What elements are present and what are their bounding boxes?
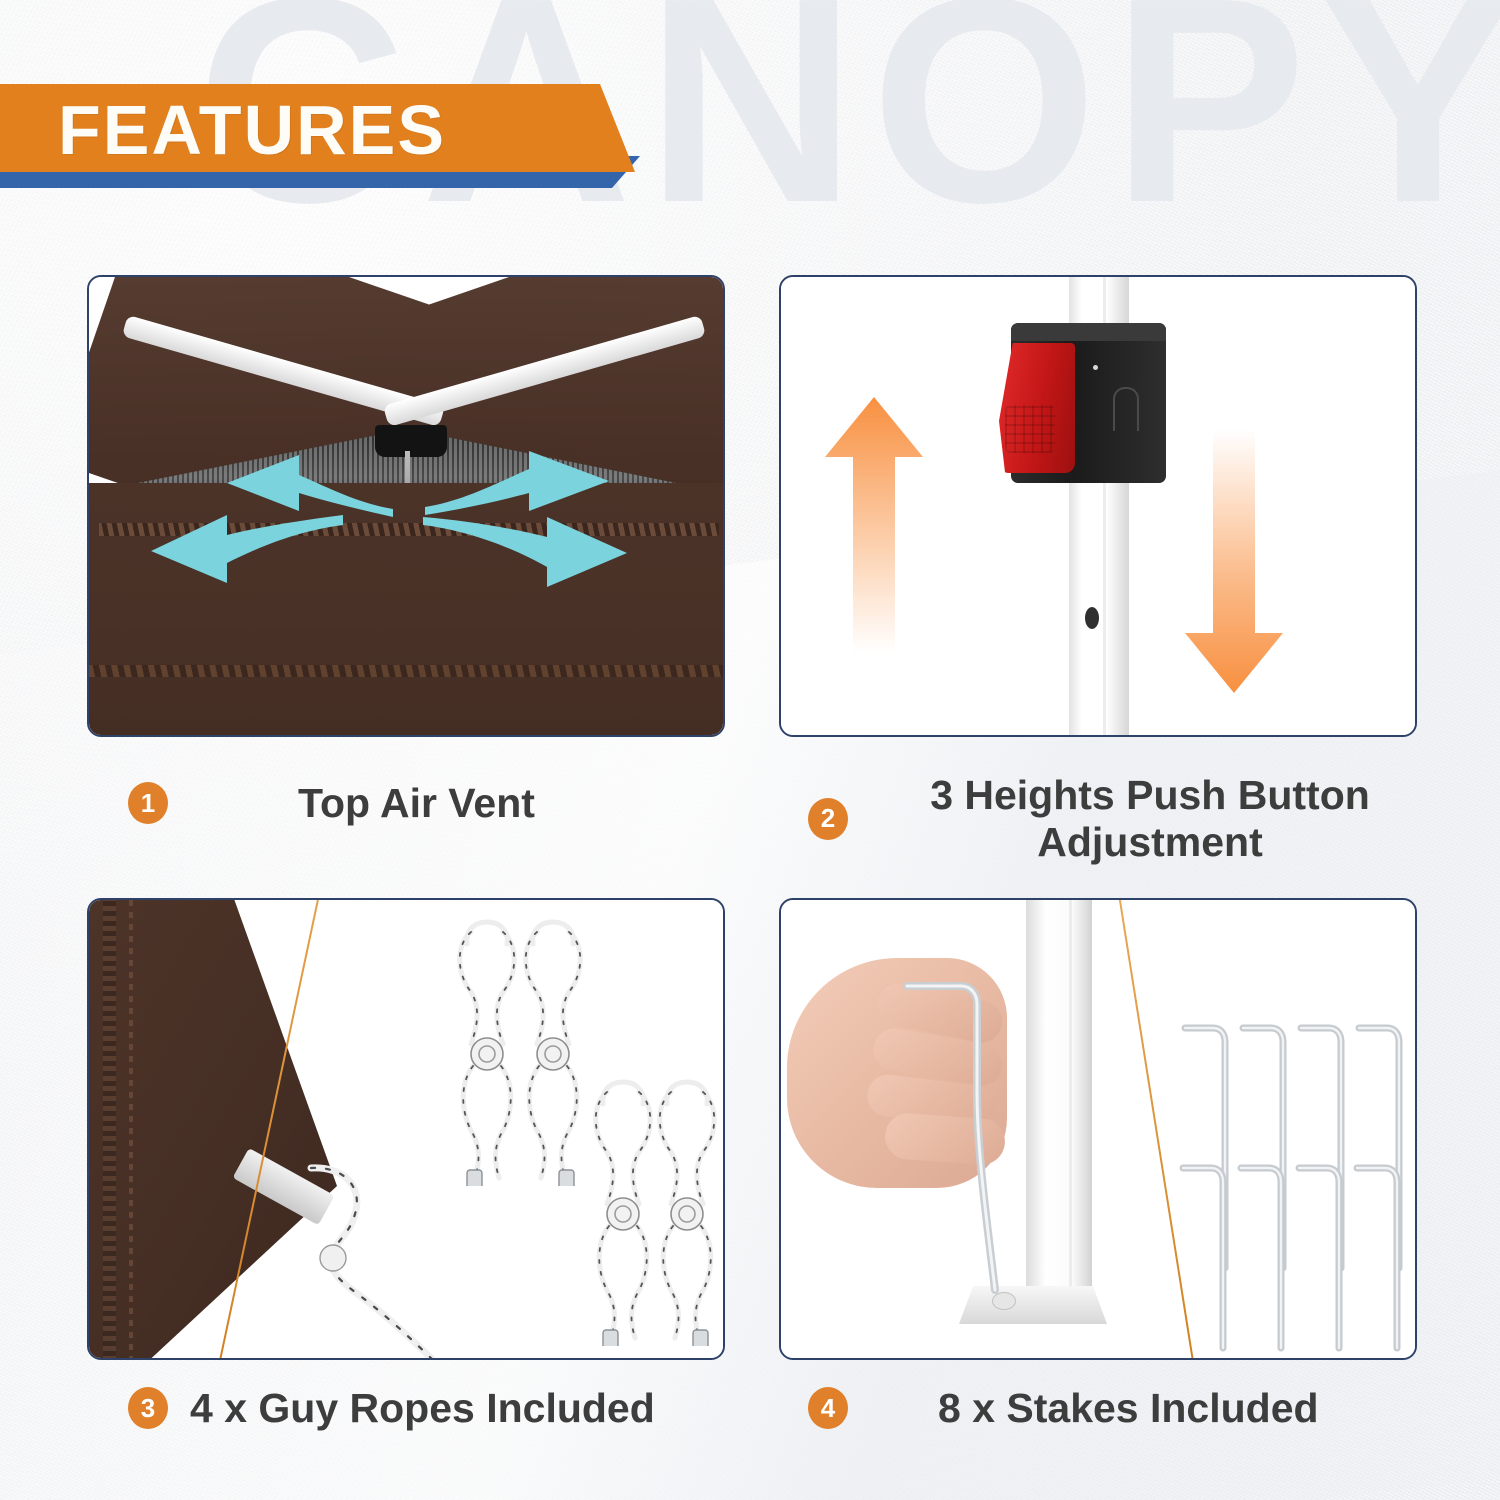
held-stake: [899, 972, 1019, 1302]
canopy-leg-pole: [1026, 898, 1092, 1314]
feature-label-1: Top Air Vent: [298, 780, 535, 827]
airflow-arrow-right-lower: [419, 509, 634, 593]
stake-7: [1295, 1158, 1347, 1358]
infographic-page: CANOPY FEATURES: [0, 0, 1500, 1500]
feature-label-3: 4 x Guy Ropes Included: [190, 1385, 655, 1432]
housing-slot: [1113, 387, 1139, 431]
red-button-grip-texture: [1005, 405, 1055, 453]
banner-title: FEATURES: [58, 90, 446, 170]
coiled-rope-3: [587, 1076, 661, 1346]
feature-panel-push-button: [779, 275, 1417, 737]
stake-5: [1179, 1158, 1231, 1358]
feature-badge-2: 2: [808, 798, 848, 840]
attached-guy-rope: [289, 1162, 489, 1360]
button-housing-top: [1011, 323, 1166, 341]
feature-label-2: 3 Heights Push Button Adjustment: [890, 772, 1410, 865]
feature-label-4: 8 x Stakes Included: [938, 1385, 1319, 1432]
canopy-stitching: [129, 900, 133, 1360]
guy-ropes-illustration: [89, 900, 723, 1358]
airflow-arrow-left-lower: [147, 505, 347, 589]
feature-badge-3: 3: [128, 1387, 168, 1429]
caption-row-2: 2 3 Heights Push Button Adjustment: [808, 772, 1428, 865]
stake-8: [1353, 1158, 1405, 1358]
caption-row-1: 1 Top Air Vent: [128, 780, 728, 827]
feature-badge-1: 1: [128, 782, 168, 824]
feature-label-2-line1: 3 Heights Push Button: [930, 772, 1370, 818]
feature-label-2-line2: Adjustment: [1037, 819, 1263, 865]
canopy-seam-lower: [89, 665, 725, 677]
feature-panel-top-air-vent: [87, 275, 725, 737]
push-button-illustration: [781, 277, 1415, 735]
caption-row-4: 4 8 x Stakes Included: [808, 1385, 1428, 1432]
down-arrow-icon: [1179, 425, 1289, 695]
pole-height-hole: [1085, 607, 1099, 629]
pole-edge-shadow: [1069, 898, 1072, 1314]
caption-row-3: 3 4 x Guy Ropes Included: [128, 1385, 748, 1432]
feature-badge-4: 4: [808, 1387, 848, 1429]
features-banner: FEATURES: [0, 84, 700, 196]
coiled-rope-4: [651, 1076, 725, 1346]
vent-illustration: [89, 277, 723, 735]
feature-panel-guy-ropes: [87, 898, 725, 1360]
coiled-rope-1: [451, 916, 525, 1186]
coiled-rope-2: [517, 916, 591, 1186]
stake-6: [1237, 1158, 1289, 1358]
housing-pin-dot: [1093, 365, 1098, 370]
feature-panel-stakes: [779, 898, 1417, 1360]
up-arrow-icon: [819, 395, 929, 655]
stakes-illustration: [781, 900, 1415, 1358]
canopy-hem: [103, 898, 116, 1360]
